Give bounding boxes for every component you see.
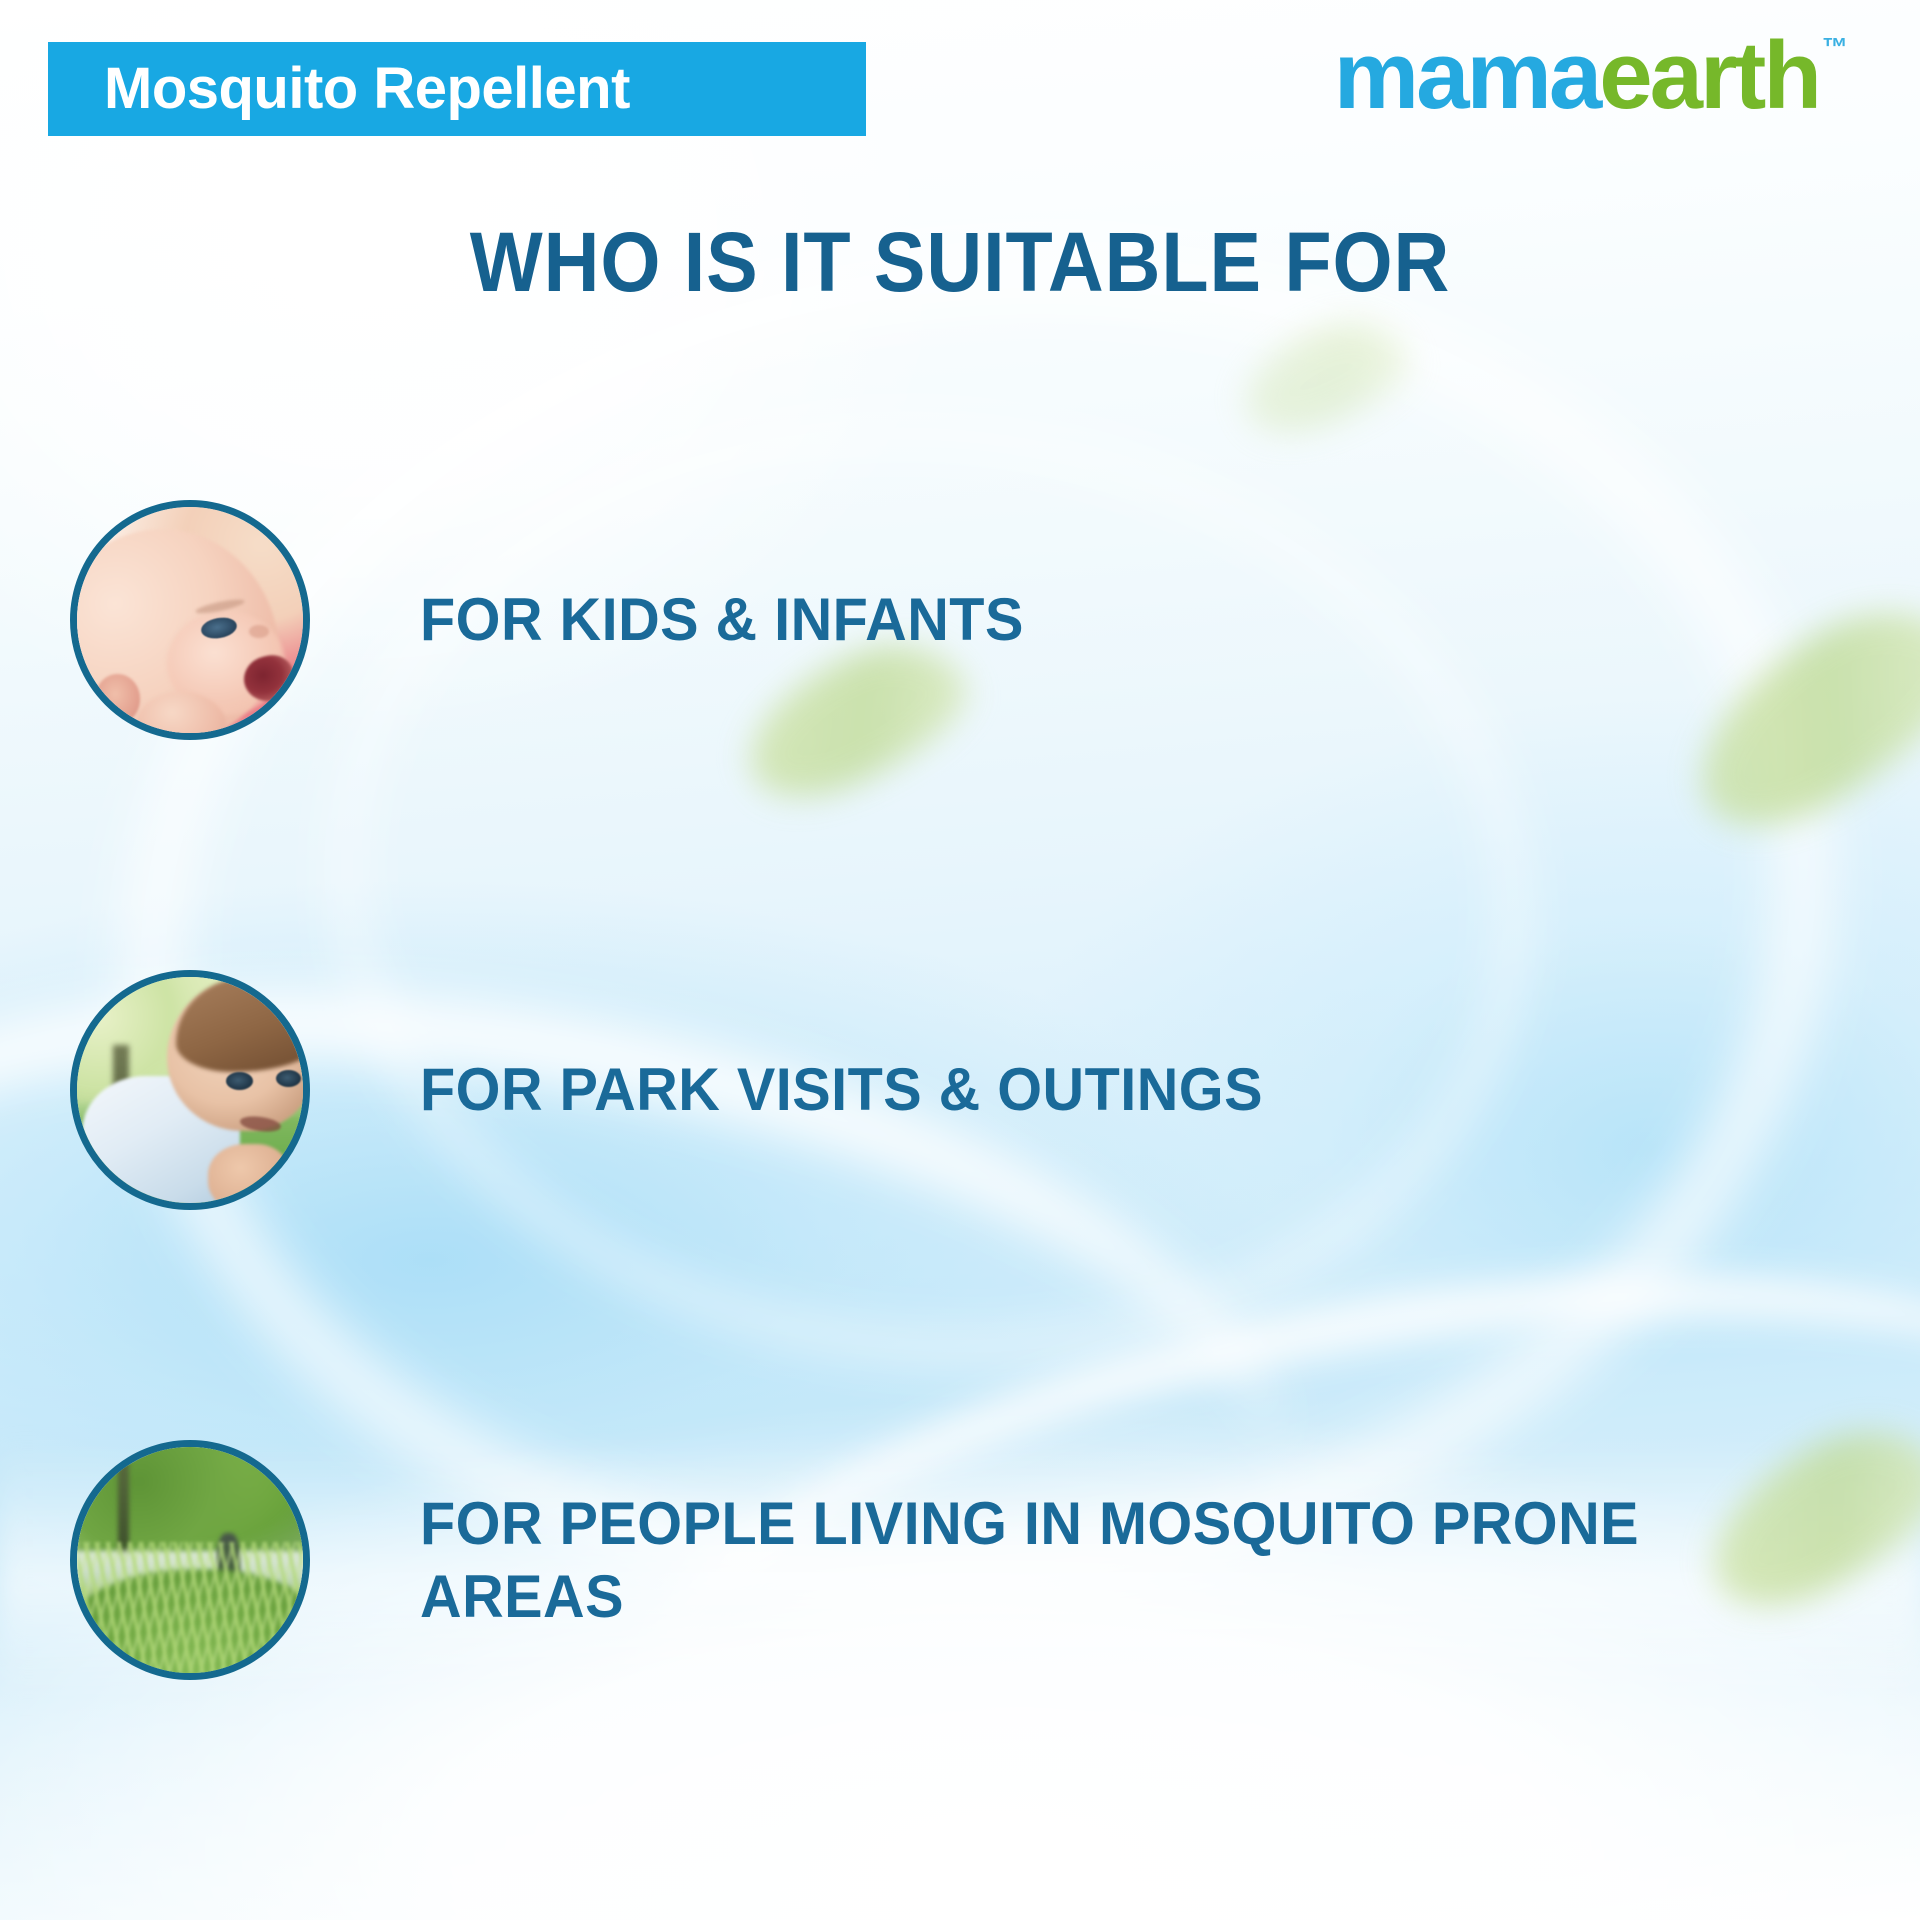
photo-subject-eye: [226, 1072, 253, 1090]
list-item-label: FOR KIDS & INFANTS: [420, 583, 1024, 656]
brand-logo-part-two: earth: [1599, 28, 1819, 124]
list-item: FOR PARK VISITS & OUTINGS: [70, 970, 1860, 1210]
category-ribbon: Mosquito Repellent: [48, 42, 866, 136]
list-item-label: FOR PEOPLE LIVING IN MOSQUITO PRONE AREA…: [420, 1487, 1802, 1633]
brand-logo: mama earth ™: [1334, 28, 1848, 124]
list-item: FOR PEOPLE LIVING IN MOSQUITO PRONE AREA…: [70, 1440, 1860, 1680]
photo-artwork: [77, 977, 303, 1203]
photo-subject-ear: [95, 674, 140, 724]
category-ribbon-label: Mosquito Repellent: [104, 60, 630, 118]
trademark-icon: ™: [1822, 34, 1848, 60]
photo-artwork: [77, 507, 303, 733]
infant-baby-face-photo: [70, 500, 310, 740]
outdoor-grass-and-trees-photo: [70, 1440, 310, 1680]
photo-artwork: [77, 1447, 303, 1673]
infographic-canvas: Mosquito Repellent mama earth ™ WHO IS I…: [0, 0, 1920, 1920]
photo-grass-blades: [77, 1542, 303, 1673]
page-title: WHO IS IT SUITABLE FOR: [77, 218, 1843, 306]
toddler-crawling-on-grass-photo: [70, 970, 310, 1210]
photo-tree-canopy: [77, 1447, 303, 1555]
brand-logo-part-one: mama: [1334, 28, 1600, 124]
photo-subject-nose: [249, 625, 269, 639]
photo-subject-eye: [276, 1070, 301, 1087]
list-item: FOR KIDS & INFANTS: [70, 500, 1860, 740]
list-item-label: FOR PARK VISITS & OUTINGS: [420, 1053, 1263, 1126]
photo-subject-arm: [208, 1144, 289, 1203]
